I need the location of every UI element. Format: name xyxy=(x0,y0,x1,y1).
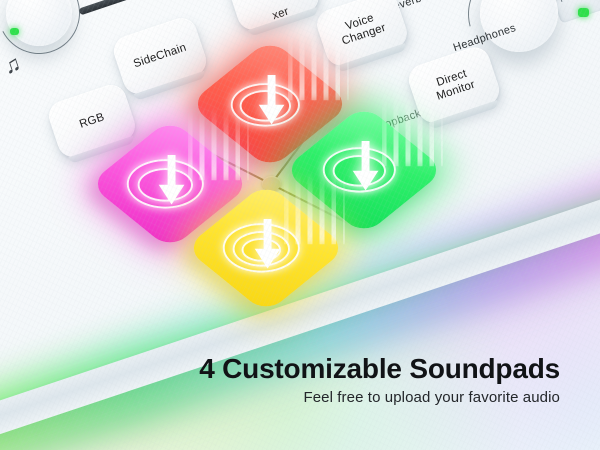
download-arrow-icon xyxy=(257,75,287,130)
button-sidechain-label: SideChain xyxy=(132,41,188,71)
caption-block: 4 Customizable Soundpads Feel free to up… xyxy=(199,354,560,406)
headline: 4 Customizable Soundpads xyxy=(199,354,560,383)
download-arrow-icon xyxy=(157,155,187,210)
download-arrow-icon xyxy=(253,219,283,274)
subheadline: Feel free to upload your favorite audio xyxy=(199,389,560,406)
power-led xyxy=(578,8,589,17)
download-arrow-icon xyxy=(351,141,381,196)
promo-image-stage: ♫ Reverb Headphones Loopback SideChain R… xyxy=(0,0,600,450)
left-led xyxy=(10,28,19,35)
button-rgb-label: RGB xyxy=(78,111,106,131)
button-mixer-label: xer xyxy=(271,6,291,23)
